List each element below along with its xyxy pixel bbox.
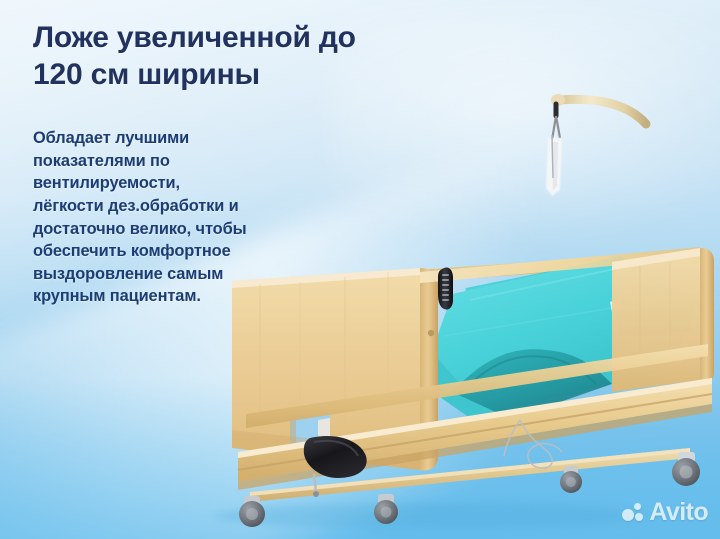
background-haze-bottom: [0, 377, 720, 539]
description-text: Обладает лучшими показателями по вентили…: [33, 127, 248, 308]
advertisement-image: Ложе увеличенной до 120 см ширины Облада…: [0, 0, 720, 539]
avito-watermark-label: Avito: [649, 500, 708, 525]
avito-logo-icon: [622, 503, 644, 523]
page-title: Ложе увеличенной до 120 см ширины: [33, 20, 433, 93]
avito-watermark: Avito: [622, 500, 708, 525]
